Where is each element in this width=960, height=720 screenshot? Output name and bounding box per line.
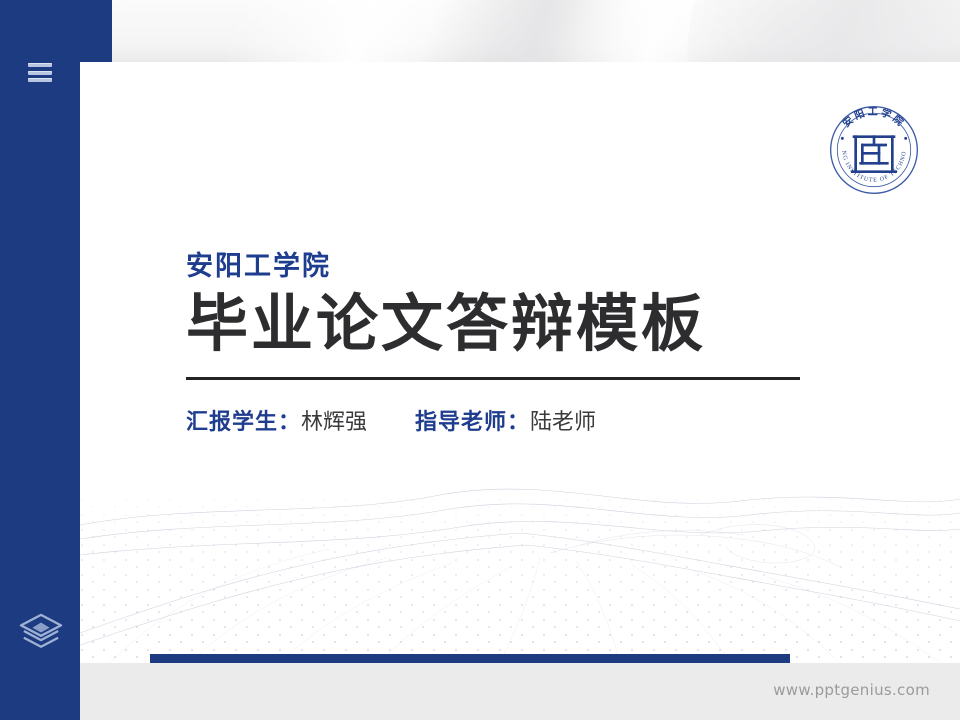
- hamburger-menu-icon[interactable]: [28, 63, 52, 82]
- presentation-viewer: www.pptgenius.com: [0, 0, 960, 720]
- hamburger-bar: [28, 71, 52, 75]
- hamburger-bar: [28, 63, 52, 67]
- left-nav-rail-header: [0, 0, 112, 62]
- presenter-label: 汇报学生：: [186, 409, 301, 434]
- school-name: 安阳工学院: [186, 252, 826, 282]
- hamburger-bar: [28, 78, 52, 82]
- dot-mesh-wave-decoration: [80, 483, 960, 663]
- title-block: 安阳工学院 毕业论文答辩模板 汇报学生：林辉强指导老师：陆老师: [186, 252, 826, 436]
- university-seal-icon: 安阳工学院 ANYANG INSTITUTE OF TECHNOLOGY: [824, 100, 924, 200]
- header-background: [0, 0, 960, 64]
- advisor-name: 陆老师: [530, 409, 596, 434]
- site-url-label: www.pptgenius.com: [773, 681, 930, 699]
- header-swoosh-shape: [648, 0, 960, 64]
- slide-canvas: 安阳工学院 ANYANG INSTITUTE OF TECHNOLOGY: [80, 62, 960, 663]
- credits-line: 汇报学生：林辉强指导老师：陆老师: [186, 404, 826, 436]
- page-title: 毕业论文答辩模板: [186, 290, 826, 359]
- presenter-name: 林辉强: [301, 409, 367, 434]
- layers-stack-icon[interactable]: [18, 612, 64, 652]
- title-divider: [186, 377, 800, 380]
- footer-bar: www.pptgenius.com: [80, 662, 960, 720]
- advisor-label: 指导老师：: [415, 409, 530, 434]
- slide-accent-bar: [150, 654, 790, 663]
